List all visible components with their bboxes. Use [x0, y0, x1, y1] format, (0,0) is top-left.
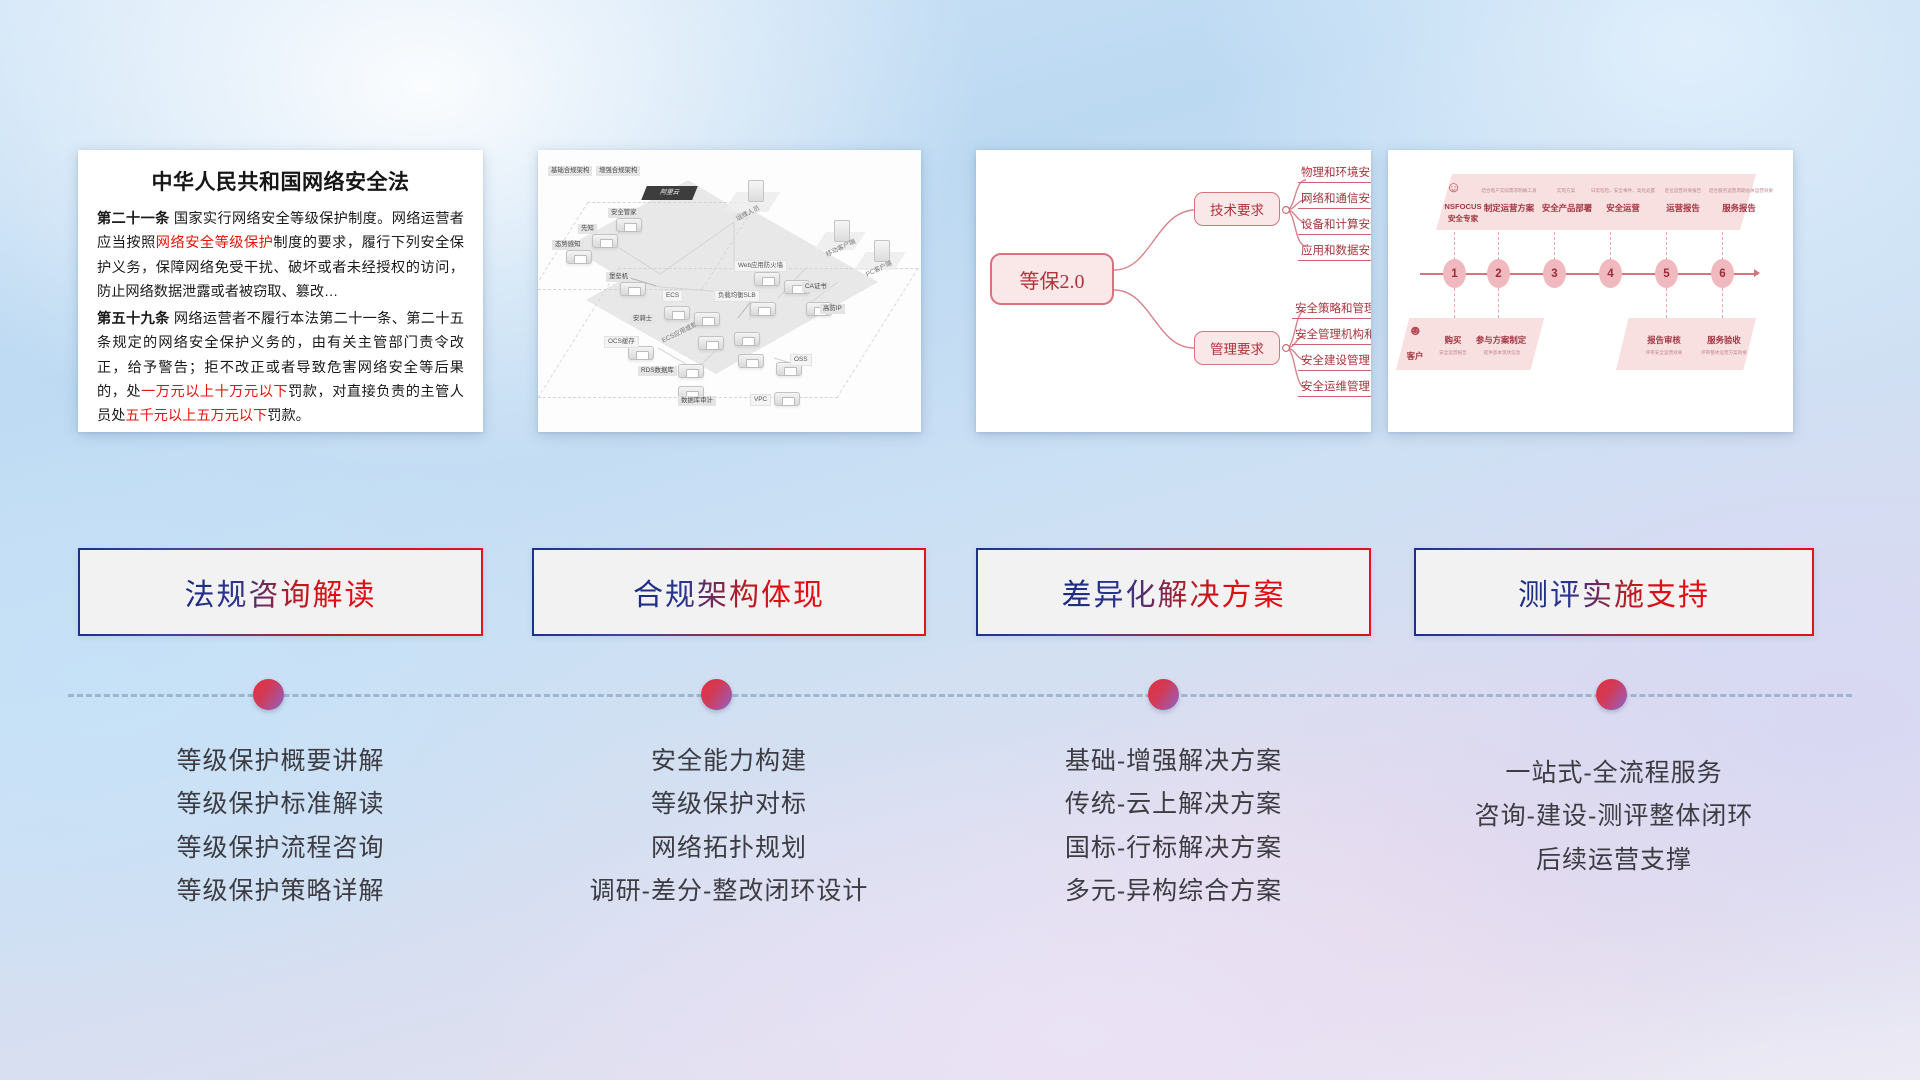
timeline-bottom-label-1: 购买 — [1436, 334, 1470, 346]
topology-node-ocs: OCS缓存 — [604, 336, 639, 348]
topology-cloud-label: 阿里云 — [641, 186, 698, 200]
slide-canvas: 中华人民共和国网络安全法 第二十一条 国家实行网络安全等级保护制度。网络运营者应… — [0, 0, 1920, 1080]
mindmap-leaf-policy-system: 安全策略和管理制度 — [1292, 300, 1371, 319]
column-list-3: 基础-增强解决方案 传统-云上解决方案 国标-行标解决方案 多元-异构综合方案 — [976, 740, 1371, 913]
timeline-dash-2 — [1498, 232, 1499, 260]
timeline-dash-5 — [1666, 232, 1667, 260]
timeline-step-6[interactable]: 6 — [1711, 259, 1734, 288]
timeline-top-label-5: 服务报告 — [1710, 202, 1768, 214]
timeline-top-sub-4: 定位运营效果报告 — [1652, 188, 1714, 194]
topology-node-ecs: ECS — [662, 290, 683, 302]
timeline-dash-1 — [1454, 232, 1455, 260]
reference-cards-row: 中华人民共和国网络安全法 第二十一条 国家实行网络安全等级保护制度。网络运营者应… — [0, 150, 1920, 440]
list-item: 安全能力构建 — [532, 740, 926, 783]
topology-node-box-2 — [592, 234, 618, 248]
timeline-top-sub-3: 日常巡检、安全事件、高危处置 — [1590, 188, 1656, 194]
article-59-label: 第五十九条 — [97, 311, 170, 327]
timeline-dash-4 — [1610, 232, 1611, 260]
topology-node-vpc: VPC — [750, 394, 771, 406]
mindmap-leaf-network-comm: 网络和通信安全 — [1298, 190, 1371, 209]
timeline-actor-nsfocus-line2: 安全专家 — [1440, 213, 1486, 224]
list-item: 咨询-建设-测评整体闭环 — [1414, 795, 1814, 838]
topology-node-box-3 — [566, 250, 592, 264]
topology-server-ops — [748, 180, 764, 202]
timeline-top-label-4: 运营报告 — [1656, 202, 1710, 214]
topology-node-box-9 — [754, 272, 780, 286]
mindmap-leaf-device-compute: 设备和计算安全 — [1298, 216, 1371, 235]
timeline-rail — [68, 694, 1852, 697]
timeline-step-3[interactable]: 3 — [1543, 259, 1566, 288]
timeline-bottom-label-6: 服务验收 — [1700, 334, 1748, 346]
article-59-text-3: 罚款。 — [267, 408, 310, 424]
topology-node-box-16 — [698, 336, 724, 350]
topology-node-gaofangip: 高防IP — [820, 304, 845, 314]
headline-label-2: 合规架构体现 — [633, 570, 825, 614]
article-21-highlight: 网络安全等级保护 — [156, 235, 274, 251]
mindmap-root[interactable]: 等保2.0 — [990, 253, 1114, 305]
card-cybersecurity-law[interactable]: 中华人民共和国网络安全法 第二十一条 国家实行网络安全等级保护制度。网络运营者应… — [78, 150, 483, 432]
expert-person-icon: ☺ — [1446, 179, 1461, 196]
topology-node-box-1 — [616, 218, 642, 232]
headline-label-4: 测评实施支持 — [1518, 570, 1710, 614]
rail-bead-2[interactable] — [701, 679, 732, 710]
list-item: 等级保护流程咨询 — [78, 827, 483, 870]
article-59-highlight-2: 五千元以上五万元以下 — [125, 408, 267, 424]
list-item: 多元-异构综合方案 — [976, 870, 1371, 913]
rail-bead-4[interactable] — [1596, 679, 1627, 710]
topology-node-taishiganzhi: 态势感知 — [552, 240, 584, 250]
list-item: 一站式-全流程服务 — [1414, 752, 1814, 795]
timeline-dash-b6 — [1722, 288, 1723, 318]
list-item: 传统-云上解决方案 — [976, 783, 1371, 826]
headline-label-3: 差异化解决方案 — [1062, 570, 1286, 614]
mindmap-leaf-physical-env: 物理和环境安全 — [1298, 164, 1371, 183]
timeline-top-label-3: 安全运营 — [1596, 202, 1650, 214]
timeline-axis-arrow-icon — [1754, 269, 1760, 277]
article-59-highlight-1: 一万元以上十万元以下 — [141, 384, 288, 400]
article-21-label: 第二十一条 — [97, 211, 170, 227]
timeline-bottom-sub-5: 评审安全运营效果 — [1636, 350, 1692, 356]
mindmap-leaf-construction-mgmt: 安全建设管理 — [1298, 352, 1371, 371]
rail-bead-1[interactable] — [253, 679, 284, 710]
timeline-top-sub-2: 实现方案 — [1540, 188, 1592, 194]
topology-tab-enhanced[interactable]: 增强合规架构 — [596, 166, 640, 176]
topology-node-box-6 — [628, 346, 654, 360]
list-item: 等级保护对标 — [532, 783, 926, 826]
headline-box-4[interactable]: 测评实施支持 — [1414, 548, 1814, 636]
column-list-1: 等级保护概要讲解 等级保护标准解读 等级保护流程咨询 等级保护策略详解 — [78, 740, 483, 913]
list-item: 等级保护标准解读 — [78, 783, 483, 826]
timeline-top-sub-1: 结合客户实际需求明确工具 — [1474, 188, 1544, 194]
network-topology-diagram: 基础合规架构 增强合规架构 阿里云 运维人员 移动客户端 PC客户端 安全管家 … — [538, 150, 921, 432]
topology-node-box-18 — [738, 354, 764, 368]
law-title: 中华人民共和国网络安全法 — [97, 166, 464, 196]
timeline-bottom-sub-1: 安全运营报告 — [1432, 350, 1474, 356]
timeline-bottom-sub-2: 提供基本现状信息 — [1476, 350, 1528, 356]
mindmap-branch-management[interactable]: 管理要求 — [1194, 331, 1280, 365]
topology-node-ca: CA证书 — [802, 282, 830, 292]
topology-node-rds: RDS数据库 — [638, 366, 677, 376]
timeline-dash-b1 — [1454, 288, 1455, 318]
mindmap-leaf-ops-mgmt: 安全运维管理 — [1298, 378, 1371, 397]
timeline-dash-b5 — [1666, 288, 1667, 318]
mindmap: 等保2.0 技术要求 管理要求 物理和环境安全 网络和通信安全 设备和计算安全 … — [976, 150, 1371, 432]
timeline-axis — [1420, 273, 1758, 275]
timeline-step-4[interactable]: 4 — [1599, 259, 1622, 288]
column-list-2: 安全能力构建 等级保护对标 网络拓扑规划 调研-差分-整改闭环设计 — [532, 740, 926, 913]
topology-node-baoleiji: 堡垒机 — [606, 272, 631, 282]
mindmap-branch-technical[interactable]: 技术要求 — [1194, 192, 1280, 226]
list-item: 调研-差分-整改闭环设计 — [532, 870, 926, 913]
timeline-top-label-2: 安全产品部署 — [1538, 202, 1596, 214]
topology-node-xianzhi: 先知 — [578, 224, 597, 234]
topology-node-box-4 — [620, 282, 646, 296]
list-item: 基础-增强解决方案 — [976, 740, 1371, 783]
list-item: 网络拓扑规划 — [532, 827, 926, 870]
headline-box-2[interactable]: 合规架构体现 — [532, 548, 926, 636]
timeline-step-1[interactable]: 1 — [1443, 259, 1466, 288]
topology-node-slb: 负载均衡SLB — [714, 290, 760, 302]
headline-label-1: 法规咨询解读 — [185, 570, 377, 614]
customer-person-icon: ☻ — [1408, 322, 1423, 338]
topology-node-box-10 — [750, 302, 776, 316]
headline-box-1[interactable]: 法规咨询解读 — [78, 548, 483, 636]
timeline-dash-3 — [1554, 232, 1555, 260]
topology-node-dbaudit: 数据库审计 — [678, 396, 716, 406]
law-article-59: 第五十九条 网络运营者不履行本法第二十一条、第二十五条规定的网络安全保护义务的，… — [97, 307, 464, 429]
law-document: 中华人民共和国网络安全法 第二十一条 国家实行网络安全等级保护制度。网络运营者应… — [78, 150, 483, 432]
topology-tab-basic[interactable]: 基础合规架构 — [548, 166, 592, 176]
topology-node-box-15 — [694, 312, 720, 326]
list-item: 等级保护策略详解 — [78, 870, 483, 913]
rail-bead-3[interactable] — [1148, 679, 1179, 710]
list-item: 国标-行标解决方案 — [976, 827, 1371, 870]
timeline-step-5[interactable]: 5 — [1655, 259, 1678, 288]
topology-node-box-14 — [774, 392, 800, 406]
card-dengbao-mindmap[interactable]: 等保2.0 技术要求 管理要求 物理和环境安全 网络和通信安全 设备和计算安全 … — [976, 150, 1371, 432]
mindmap-leaf-org-personnel: 安全管理机构和人员 — [1292, 326, 1371, 345]
topology-node-box-5 — [664, 306, 690, 320]
column-list-4: 一站式-全流程服务 咨询-建设-测评整体闭环 后续运营支撑 — [1414, 752, 1814, 882]
topology-node-anquanguanjia: 安全管家 — [608, 208, 640, 218]
topology-node-box-17 — [734, 332, 760, 346]
list-item: 后续运营支撑 — [1414, 839, 1814, 882]
timeline-bottom-label-5: 报告审核 — [1640, 334, 1688, 346]
topology-node-box-7 — [678, 364, 704, 378]
card-compliance-architecture[interactable]: 基础合规架构 增强合规架构 阿里云 运维人员 移动客户端 PC客户端 安全管家 … — [538, 150, 921, 432]
law-article-21: 第二十一条 国家实行网络安全等级保护制度。网络运营者应当按照网络安全等级保护制度… — [97, 207, 464, 305]
timeline-bottom-label-2: 参与方案制定 — [1474, 334, 1528, 346]
timeline-dash-b2 — [1498, 288, 1499, 318]
headline-box-3[interactable]: 差异化解决方案 — [976, 548, 1371, 636]
timeline-top-label-1: 制定运营方案 — [1480, 202, 1538, 214]
topology-node-waf: Web应用防火墙 — [734, 260, 787, 272]
timeline-dash-6 — [1722, 232, 1723, 260]
timeline-bottom-sub-6: 评审整体运营方案效果 — [1690, 350, 1758, 356]
timeline-actor-customer: 客户 — [1402, 350, 1428, 362]
timeline-step-2[interactable]: 2 — [1487, 259, 1510, 288]
service-timeline: ☺ NSFOCUS 安全专家 结合客户实际需求明确工具 制定运营方案 实现方案 … — [1388, 150, 1793, 432]
list-item: 等级保护概要讲解 — [78, 740, 483, 783]
timeline-top-sub-5: 结合服务运营周期总体运营效果 — [1706, 188, 1776, 194]
topology-node-oss: OSS — [790, 354, 812, 366]
mindmap-leaf-app-data: 应用和数据安全 — [1298, 242, 1371, 261]
topology-node-anqishi: 安骑士 — [630, 314, 655, 324]
card-nsfocus-service-timeline[interactable]: ☺ NSFOCUS 安全专家 结合客户实际需求明确工具 制定运营方案 实现方案 … — [1388, 150, 1793, 432]
